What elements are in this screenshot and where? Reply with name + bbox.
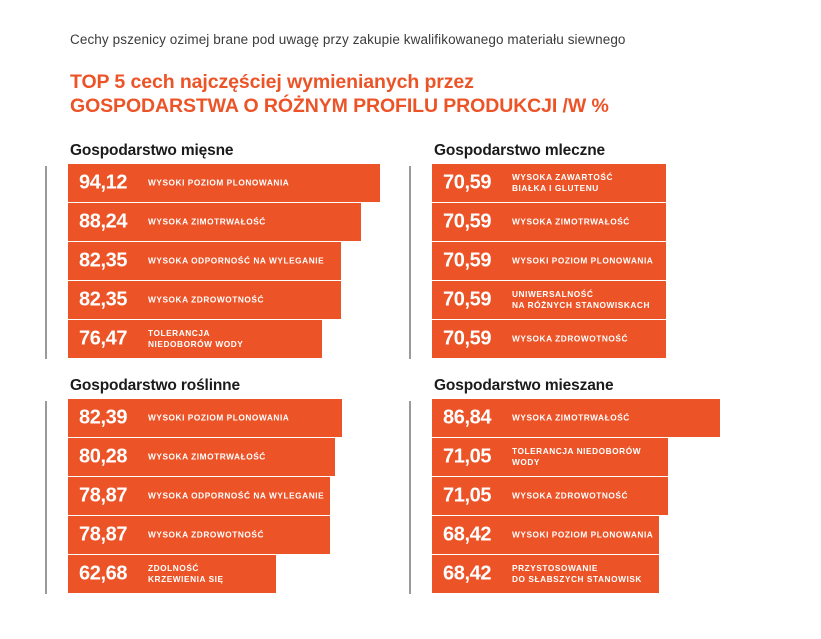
chart-title: Gospodarstwo roślinne xyxy=(70,377,240,395)
bar: 70,59WYSOKA ZAWARTOŚĆ BIAŁKA I GLUTENU xyxy=(432,164,666,202)
infographic-page: Cechy pszenicy ozimej brane pod uwagę pr… xyxy=(0,0,821,639)
bar-label: WYSOKA ODPORNOŚĆ NA WYLEGANIE xyxy=(148,491,324,502)
bar-value: 70,59 xyxy=(443,211,491,234)
chart-title: Gospodarstwo mieszane xyxy=(434,377,613,395)
bar: 76,47TOLERANCJA NIEDOBORÓW WODY xyxy=(68,320,322,358)
bar-label: WYSOKI POZIOM PLONOWANIA xyxy=(148,413,289,424)
bar-value: 71,05 xyxy=(443,485,491,508)
bar: 62,68ZDOLNOŚĆ KRZEWIENIA SIĘ xyxy=(68,555,276,593)
axis-line xyxy=(409,166,411,359)
bar-value: 62,68 xyxy=(79,563,127,586)
headline-line-2: GOSPODARSTWA O RÓŻNYM PROFILU PRODUKCJI … xyxy=(70,94,609,118)
bar-value: 76,47 xyxy=(79,328,127,351)
bar-value: 68,42 xyxy=(443,563,491,586)
bar-value: 86,84 xyxy=(443,407,491,430)
axis-line xyxy=(45,166,47,359)
bar-label: WYSOKA ZDROWOTNOŚĆ xyxy=(512,491,628,502)
bar: 82,35WYSOKA ZDROWOTNOŚĆ xyxy=(68,281,341,319)
bar-value: 82,35 xyxy=(79,289,127,312)
bar-value: 68,42 xyxy=(443,524,491,547)
bar-label: PRZYSTOSOWANIE DO SŁABSZYCH STANOWISK xyxy=(512,563,642,585)
bar-value: 78,87 xyxy=(79,524,127,547)
bar-label: WYSOKA ZDROWOTNOŚĆ xyxy=(512,334,628,345)
bar: 68,42PRZYSTOSOWANIE DO SŁABSZYCH STANOWI… xyxy=(432,555,659,593)
chart-title: Gospodarstwo mięsne xyxy=(70,142,233,160)
chart-title: Gospodarstwo mleczne xyxy=(434,142,605,160)
bar: 86,84WYSOKA ZIMOTRWAŁOŚĆ xyxy=(432,399,720,437)
bar: 70,59WYSOKA ZDROWOTNOŚĆ xyxy=(432,320,666,358)
bar: 71,05WYSOKA ZDROWOTNOŚĆ xyxy=(432,477,668,515)
bar-label: UNIWERSALNOŚĆ NA RÓŻNYCH STANOWISKACH xyxy=(512,289,650,311)
bar: 82,39WYSOKI POZIOM PLONOWANIA xyxy=(68,399,342,437)
bar-value: 70,59 xyxy=(443,328,491,351)
bar: 78,87WYSOKA ODPORNOŚĆ NA WYLEGANIE xyxy=(68,477,330,515)
bar-value: 88,24 xyxy=(79,211,127,234)
bar-value: 71,05 xyxy=(443,446,491,469)
bar-label: WYSOKA ODPORNOŚĆ NA WYLEGANIE xyxy=(148,256,324,267)
bar: 70,59WYSOKA ZIMOTRWAŁOŚĆ xyxy=(432,203,666,241)
bar-value: 82,35 xyxy=(79,250,127,273)
bar-value: 70,59 xyxy=(443,289,491,312)
bar-label: TOLERANCJA NIEDOBORÓW WODY xyxy=(148,328,243,350)
bar: 70,59UNIWERSALNOŚĆ NA RÓŻNYCH STANOWISKA… xyxy=(432,281,666,319)
bar: 94,12WYSOKI POZIOM PLONOWANIA xyxy=(68,164,380,202)
bar-value: 80,28 xyxy=(79,446,127,469)
bar-label: WYSOKA ZDROWOTNOŚĆ xyxy=(148,530,264,541)
bar-label: WYSOKA ZIMOTRWAŁOŚĆ xyxy=(148,452,266,463)
bar: 88,24WYSOKA ZIMOTRWAŁOŚĆ xyxy=(68,203,361,241)
bar: 71,05TOLERANCJA NIEDOBORÓW WODY xyxy=(432,438,668,476)
bar-label: ZDOLNOŚĆ KRZEWIENIA SIĘ xyxy=(148,563,224,585)
bar-label: WYSOKI POZIOM PLONOWANIA xyxy=(512,530,653,541)
bar: 68,42WYSOKI POZIOM PLONOWANIA xyxy=(432,516,659,554)
subtitle: Cechy pszenicy ozimej brane pod uwagę pr… xyxy=(70,32,626,47)
bar-value: 78,87 xyxy=(79,485,127,508)
bar-label: WYSOKA ZIMOTRWAŁOŚĆ xyxy=(512,413,630,424)
bar: 82,35WYSOKA ODPORNOŚĆ NA WYLEGANIE xyxy=(68,242,341,280)
bar-label: WYSOKA ZDROWOTNOŚĆ xyxy=(148,295,264,306)
bar-label: WYSOKA ZAWARTOŚĆ BIAŁKA I GLUTENU xyxy=(512,172,613,194)
bar: 70,59WYSOKI POZIOM PLONOWANIA xyxy=(432,242,666,280)
bar-value: 70,59 xyxy=(443,250,491,273)
bar-label: WYSOKA ZIMOTRWAŁOŚĆ xyxy=(148,217,266,228)
bar-value: 94,12 xyxy=(79,172,127,195)
bar: 78,87WYSOKA ZDROWOTNOŚĆ xyxy=(68,516,330,554)
bar-value: 70,59 xyxy=(443,172,491,195)
bar: 80,28WYSOKA ZIMOTRWAŁOŚĆ xyxy=(68,438,335,476)
bar-label: WYSOKI POZIOM PLONOWANIA xyxy=(512,256,653,267)
bar-label: TOLERANCJA NIEDOBORÓW WODY xyxy=(512,446,668,468)
page-title: TOP 5 cech najczęściej wymienianych prze… xyxy=(70,70,609,118)
headline-line-1: TOP 5 cech najczęściej wymienianych prze… xyxy=(70,70,609,94)
bar-value: 82,39 xyxy=(79,407,127,430)
bar-label: WYSOKA ZIMOTRWAŁOŚĆ xyxy=(512,217,630,228)
bar-label: WYSOKI POZIOM PLONOWANIA xyxy=(148,178,289,189)
axis-line xyxy=(45,401,47,594)
axis-line xyxy=(409,401,411,594)
